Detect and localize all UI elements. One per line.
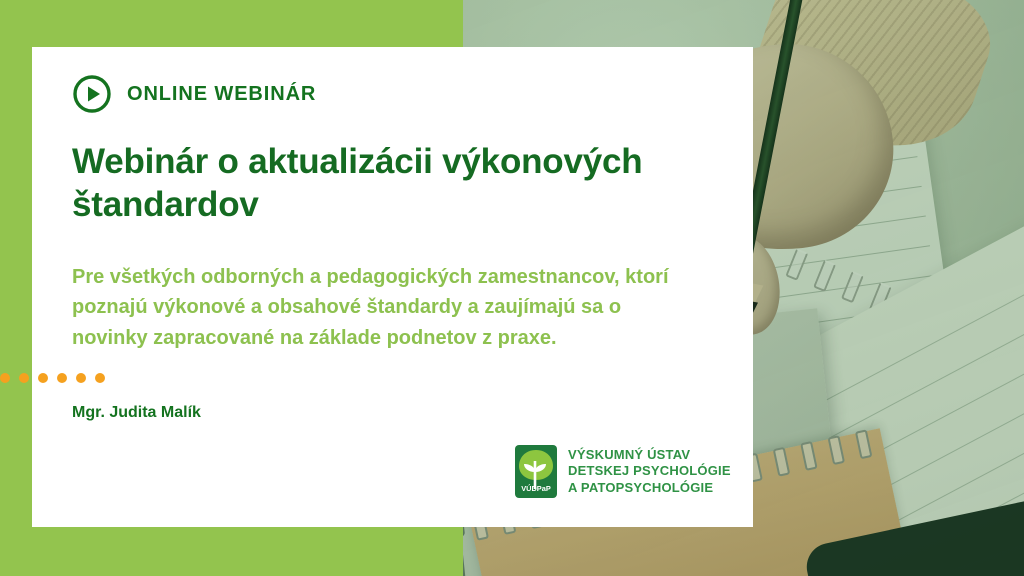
orange-dots-decoration: [0, 370, 95, 386]
speaker-name: Mgr. Judita Malík: [72, 404, 201, 422]
dot: [57, 373, 67, 383]
dot: [76, 373, 86, 383]
content-card: ONLINE WEBINÁR Webinár o aktualizácii vý…: [32, 47, 753, 527]
vudpap-logo-text: VÝSKUMNÝ ÚSTAV DETSKEJ PSYCHOLÓGIE A PAT…: [568, 447, 731, 497]
dot: [0, 373, 10, 383]
dot: [19, 373, 29, 383]
svg-text:VÚDPaP: VÚDPaP: [521, 484, 551, 493]
eyebrow-label: ONLINE WEBINÁR: [127, 83, 316, 106]
logo-line-1: VÝSKUMNÝ ÚSTAV: [568, 447, 731, 464]
webinar-banner: ONLINE WEBINÁR Webinár o aktualizácii vý…: [0, 0, 1024, 576]
page-title: Webinár o aktualizácii výkonových štanda…: [72, 141, 712, 226]
logo-line-3: A PATOPSYCHOLÓGIE: [568, 480, 731, 497]
logo-line-2: DETSKEJ PSYCHOLÓGIE: [568, 463, 731, 480]
dot: [95, 373, 105, 383]
eyebrow: ONLINE WEBINÁR: [72, 74, 316, 114]
dot: [38, 373, 48, 383]
vudpap-logo: VÚDPaP VÝSKUMNÝ ÚSTAV DETSKEJ PSYCHOLÓGI…: [515, 445, 731, 498]
play-circle-icon: [72, 74, 112, 114]
lead-paragraph: Pre všetkých odborných a pedagogických z…: [72, 262, 702, 353]
vudpap-logo-mark: VÚDPaP: [515, 445, 557, 498]
